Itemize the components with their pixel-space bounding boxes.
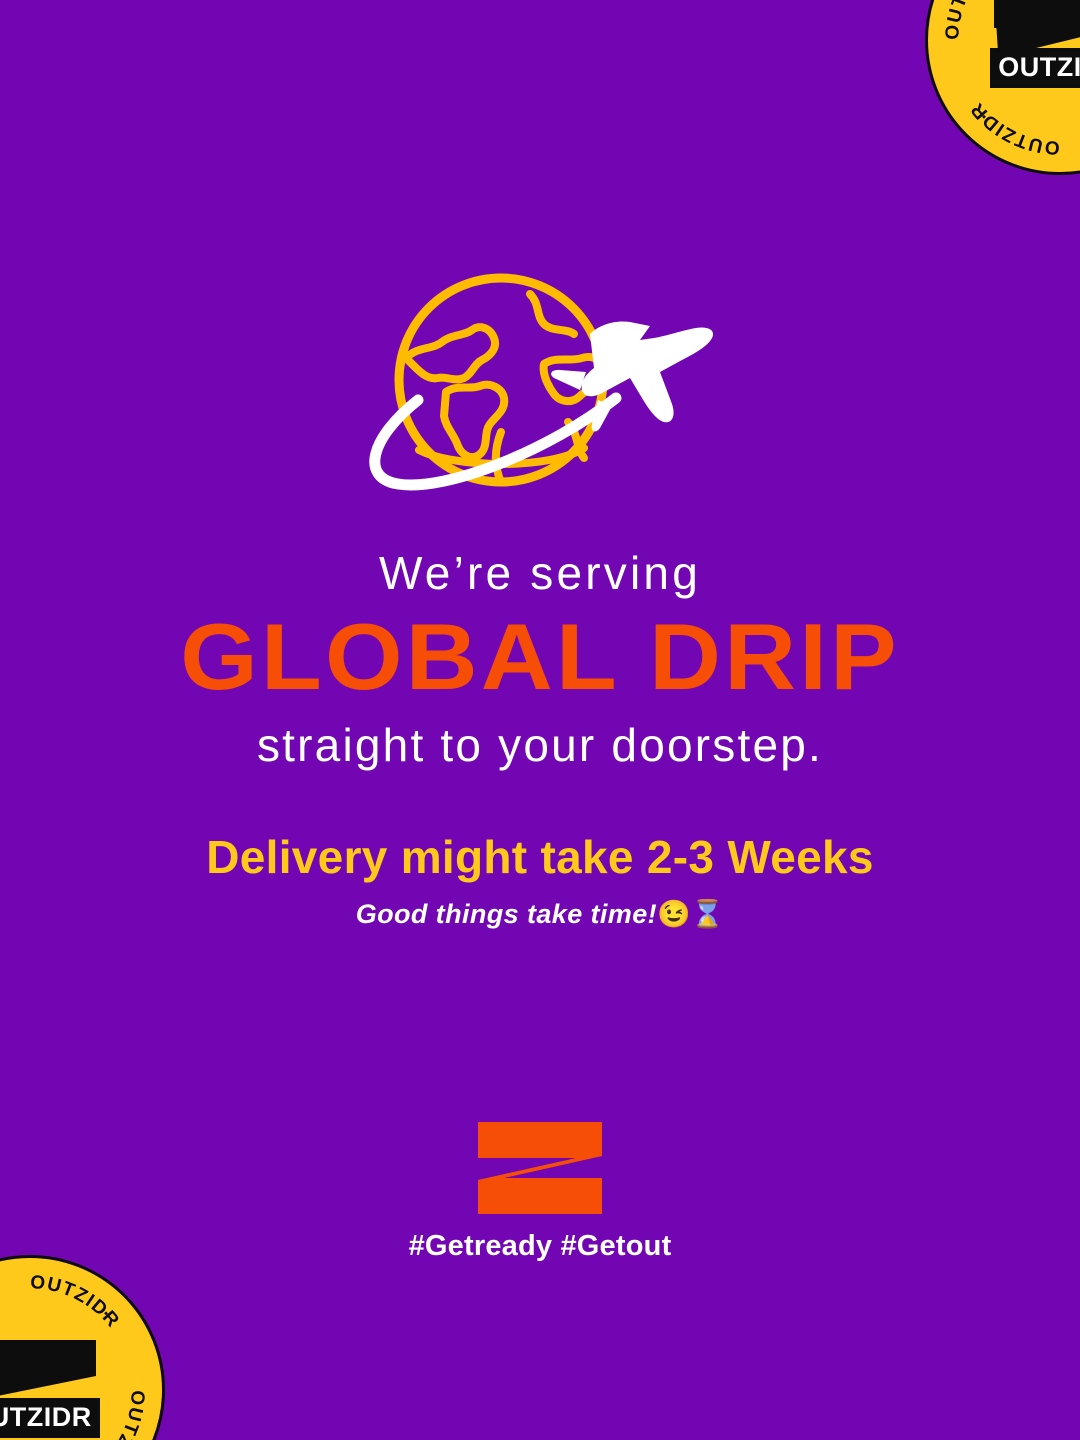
headline: GLOBAL DRIP (0, 606, 1080, 708)
outzidr-badge-bottom-left: OUTZIDR · OUTZIDR · OUTZIDR · OUTZIDR · … (0, 1255, 165, 1440)
ring-text-run-1: OUTZIDR (29, 1272, 123, 1332)
badge-z-mark: OUTZIDR (0, 1336, 106, 1440)
badge-mark-wordmark: OUTZIDR (0, 1402, 92, 1432)
delivery-time-line: Delivery might take 2-3 Weeks (0, 830, 1080, 884)
good-things-line: Good things take time!😉⌛ (0, 898, 1080, 930)
outzidr-badge-top-right: OUTZIDR · OUTZIDR · OUTZIDR · OUTZIDR · … (925, 0, 1080, 175)
airplane-icon (551, 322, 713, 432)
doorstep-line: straight to your doorstep. (0, 719, 1080, 772)
wink-face-icon: 😉 (657, 899, 691, 929)
ring-text-run-3: OUTZIDR (966, 98, 1060, 158)
globe-airplane-illustration (354, 272, 726, 516)
outzidr-z-logo (478, 1122, 602, 1214)
hourglass-icon: ⌛ (691, 899, 725, 929)
promo-poster: OUTZIDR · OUTZIDR · OUTZIDR · OUTZIDR · … (0, 0, 1080, 1440)
badge-z-mark: OUTZIDR (984, 0, 1080, 94)
copy-block: We’re serving GLOBAL DRIP straight to yo… (0, 548, 1080, 930)
serving-line: We’re serving (0, 548, 1080, 600)
good-things-text: Good things take time! (356, 899, 657, 929)
badge-mark-wordmark: OUTZIDR (998, 52, 1080, 82)
hashtags: #Getready #Getout (0, 1230, 1080, 1263)
footer-block: #Getready #Getout (0, 1122, 1080, 1263)
